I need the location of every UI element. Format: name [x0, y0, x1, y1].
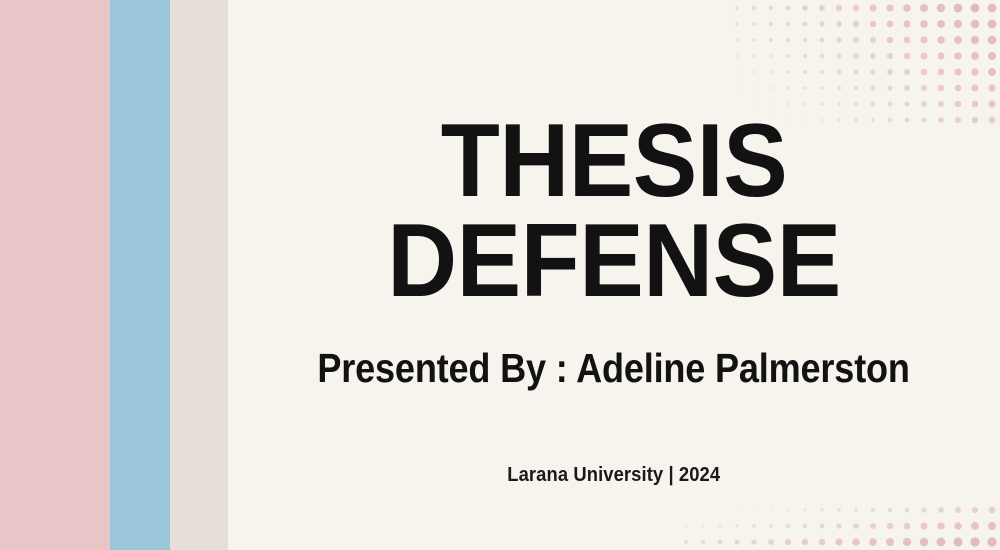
page-title: THESIS DEFENSE [228, 112, 1000, 312]
beige-stripe [170, 0, 228, 550]
slide-content: THESIS DEFENSE Presented By : Adeline Pa… [228, 0, 1000, 550]
halftone-dots-bottom-right-icon [680, 500, 1000, 550]
left-stripe-group [0, 0, 228, 550]
title-line-thesis: THESIS [255, 112, 973, 212]
institution-footer: Larana University | 2024 [508, 465, 721, 485]
presenter-subtitle: Presented By : Adeline Palmerston [318, 348, 910, 389]
title-slide: THESIS DEFENSE Presented By : Adeline Pa… [0, 0, 1000, 550]
pink-stripe [0, 0, 110, 550]
halftone-dots-top-right-icon [735, 0, 1000, 132]
title-line-defense: DEFENSE [255, 212, 973, 312]
blue-stripe [110, 0, 170, 550]
